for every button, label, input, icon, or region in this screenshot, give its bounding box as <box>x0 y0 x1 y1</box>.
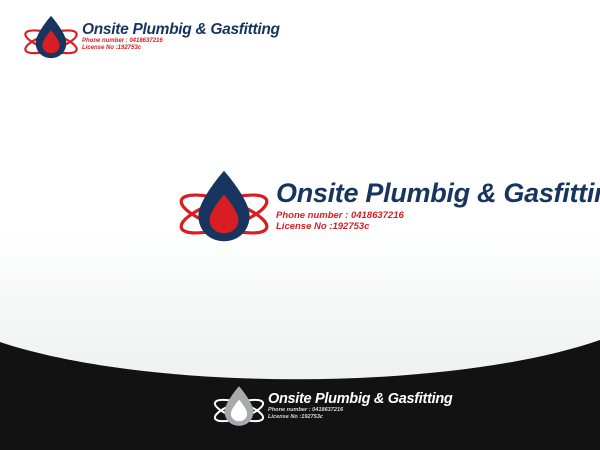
logo-text-block-top-left: Onsite Plumbig & Gasfitting Phone number… <box>82 22 280 53</box>
license-number-line: License No :192753c <box>82 45 280 52</box>
droplet-atom-icon <box>22 14 80 60</box>
logo-text-block-center: Onsite Plumbig & Gasfitting Phone number… <box>276 180 600 232</box>
brand-name: Onsite Plumbig & Gasfitting <box>82 22 280 38</box>
logo-text-block-bottom: Onsite Plumbig & Gasfitting Phone number… <box>268 392 452 421</box>
brand-name: Onsite Plumbig & Gasfitting <box>276 180 600 207</box>
droplet-atom-icon <box>176 166 272 246</box>
phone-number-line: Phone number : 0418637216 <box>268 407 452 414</box>
droplet-atom-icon <box>212 384 266 428</box>
logo-lockup-top-left[interactable]: Onsite Plumbig & Gasfitting Phone number… <box>22 14 280 60</box>
logo-lockup-center[interactable]: Onsite Plumbig & Gasfitting Phone number… <box>176 166 600 246</box>
logo-lockup-bottom-reversed[interactable]: Onsite Plumbig & Gasfitting Phone number… <box>212 384 452 428</box>
license-number-line: License No :192753c <box>268 414 452 421</box>
logo-presentation-canvas: Onsite Plumbig & Gasfitting Phone number… <box>0 0 600 450</box>
license-number-line: License No :192753c <box>276 221 600 232</box>
phone-number-line: Phone number : 0418637216 <box>276 210 600 221</box>
phone-number-line: Phone number : 0418637216 <box>82 38 280 45</box>
brand-name: Onsite Plumbig & Gasfitting <box>268 392 452 407</box>
